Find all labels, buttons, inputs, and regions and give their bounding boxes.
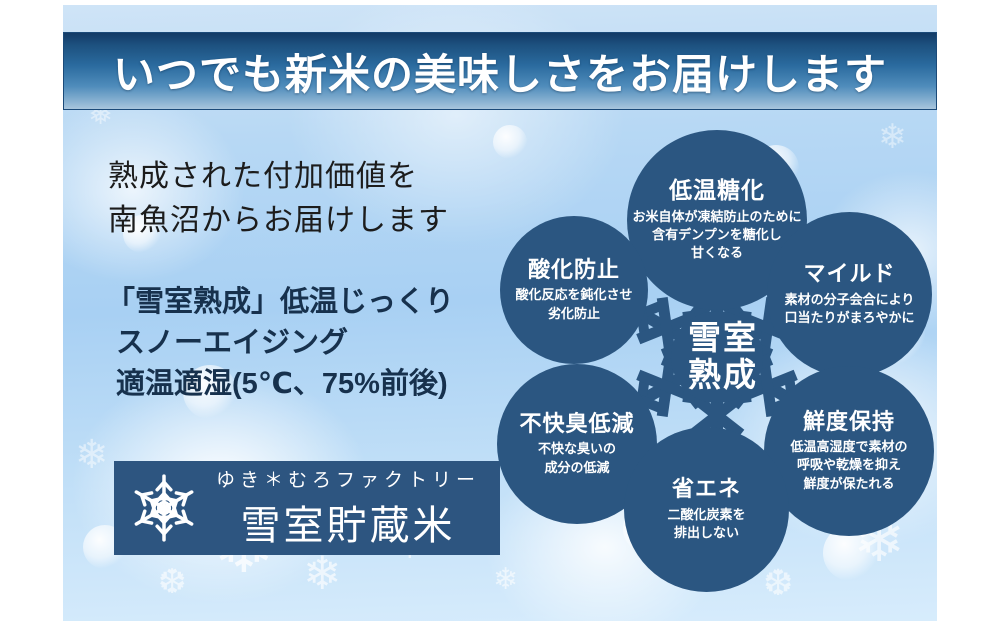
node-body-line-1: 二酸化炭素を xyxy=(667,506,745,524)
snowflake-icon xyxy=(126,470,202,546)
node-body-line-2: 排出しない xyxy=(667,524,745,542)
benefit-node-antioxidation[interactable]: 酸化防止 酸化反応を鈍化させ 劣化防止 xyxy=(500,216,648,364)
node-body-line-1: 不快な臭いの xyxy=(538,440,616,458)
node-body-line-1: 低温高湿度で素材の xyxy=(790,438,907,456)
snowflake-icon: ❆ xyxy=(158,565,187,599)
lead-line-2: 南魚沼からお届けします xyxy=(108,199,508,243)
node-body: 二酸化炭素を 排出しない xyxy=(667,506,745,543)
node-body-line-1: 酸化反応を鈍化させ xyxy=(515,286,632,304)
node-title: マイルド xyxy=(803,261,895,286)
benefit-node-energy-saving[interactable]: 省エネ 二酸化炭素を 排出しない xyxy=(624,427,789,592)
node-body-line-2: 劣化防止 xyxy=(515,305,632,323)
feature-text-block: 「雪室熟成」低温じっくり スノーエイジング 適温適湿(5℃、75%前後) xyxy=(106,282,526,406)
node-body-line-2: 含有デンプンを糖化し xyxy=(632,226,801,244)
node-body-line-1: お米自体が凍結防止のために xyxy=(632,208,801,226)
node-body-line-2: 成分の低減 xyxy=(538,459,616,477)
lead-line-1: 熟成された付加価値を xyxy=(108,155,508,199)
brand-logo-plate: ゆき＊むろファクトリー 雪室貯蔵米 xyxy=(114,461,500,555)
feature-line-2: スノーエイジング xyxy=(106,323,526,364)
node-title: 不快臭低減 xyxy=(519,411,634,436)
snowflake-icon: ❄ xyxy=(75,435,109,475)
node-body: 低温高湿度で素材の 呼吸や乾燥を抑え 鮮度が保たれる xyxy=(790,438,907,493)
node-body: 不快な臭いの 成分の低減 xyxy=(538,440,616,477)
node-body: 酸化反応を鈍化させ 劣化防止 xyxy=(515,286,632,323)
brand-name-label: 雪室貯蔵米 xyxy=(206,493,490,551)
node-title: 鮮度保持 xyxy=(803,409,895,434)
lead-text-block: 熟成された付加価値を 南魚沼からお届けします xyxy=(108,155,508,243)
feature-line-3: 適温適湿(5℃、75%前後) xyxy=(106,364,526,405)
node-body-line-3: 鮮度が保たれる xyxy=(790,475,907,493)
feature-line-1: 「雪室熟成」低温じっくり xyxy=(106,282,526,323)
header-banner: いつでも新米の美味しさをお届けします xyxy=(63,32,937,110)
node-title: 省エネ xyxy=(672,476,741,501)
node-title: 酸化防止 xyxy=(528,257,620,282)
node-body-line-2: 呼吸や乾燥を抑え xyxy=(790,456,907,474)
node-body: 素材の分子会合により 口当たりがまろやかに xyxy=(784,291,914,328)
header-title: いつでも新米の美味しさをお届けします xyxy=(113,41,887,102)
benefit-node-mild[interactable]: マイルド 素材の分子会合により 口当たりがまろやかに xyxy=(767,212,932,377)
poster-root: ❄ ❄ ❆ ❅ ❄ ❄ ❆ ❅ ❄ ❅ ❄ いつでも新米の美味しさをお届けします… xyxy=(0,0,1000,621)
snowflake-icon: ❄ xyxy=(303,550,342,596)
brand-text-group: ゆき＊むろファクトリー 雪室貯蔵米 xyxy=(206,465,490,551)
snow-aging-benefits-diagram: 雪室 熟成 低温糖化 お米自体が凍結防止のために 含有デンプンを糖化し 甘くなる… xyxy=(487,132,947,582)
benefit-node-freshness[interactable]: 鮮度保持 低温高湿度で素材の 呼吸や乾燥を抑え 鮮度が保たれる xyxy=(764,366,934,536)
node-body-line-1: 素材の分子会合により xyxy=(784,291,914,309)
node-title: 低温糖化 xyxy=(669,177,765,203)
node-body-line-2: 口当たりがまろやかに xyxy=(784,309,914,327)
brand-kana-label: ゆき＊むろファクトリー xyxy=(206,465,490,492)
